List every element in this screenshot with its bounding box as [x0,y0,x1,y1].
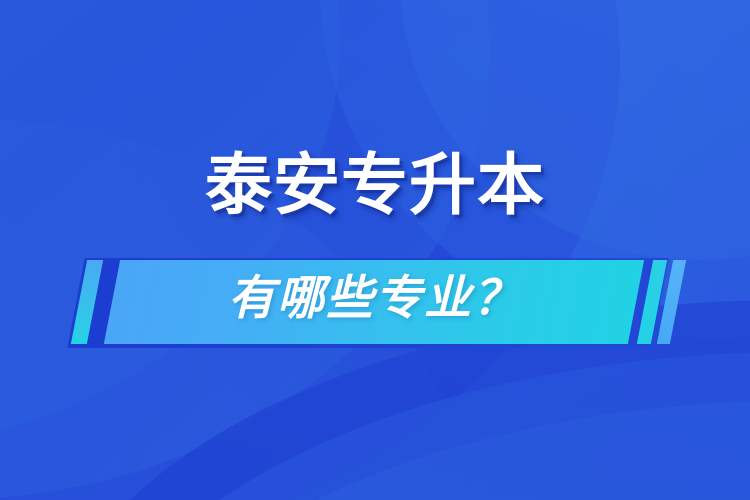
subtitle-band-group: 有哪些专业？ [0,252,750,352]
banner-subtitle: 有哪些专业？ [0,274,750,321]
banner-title: 泰安专升本 [0,152,750,219]
promo-banner: 泰安专升本 有哪些专业？ [0,0,750,500]
background-gradient [0,0,750,500]
